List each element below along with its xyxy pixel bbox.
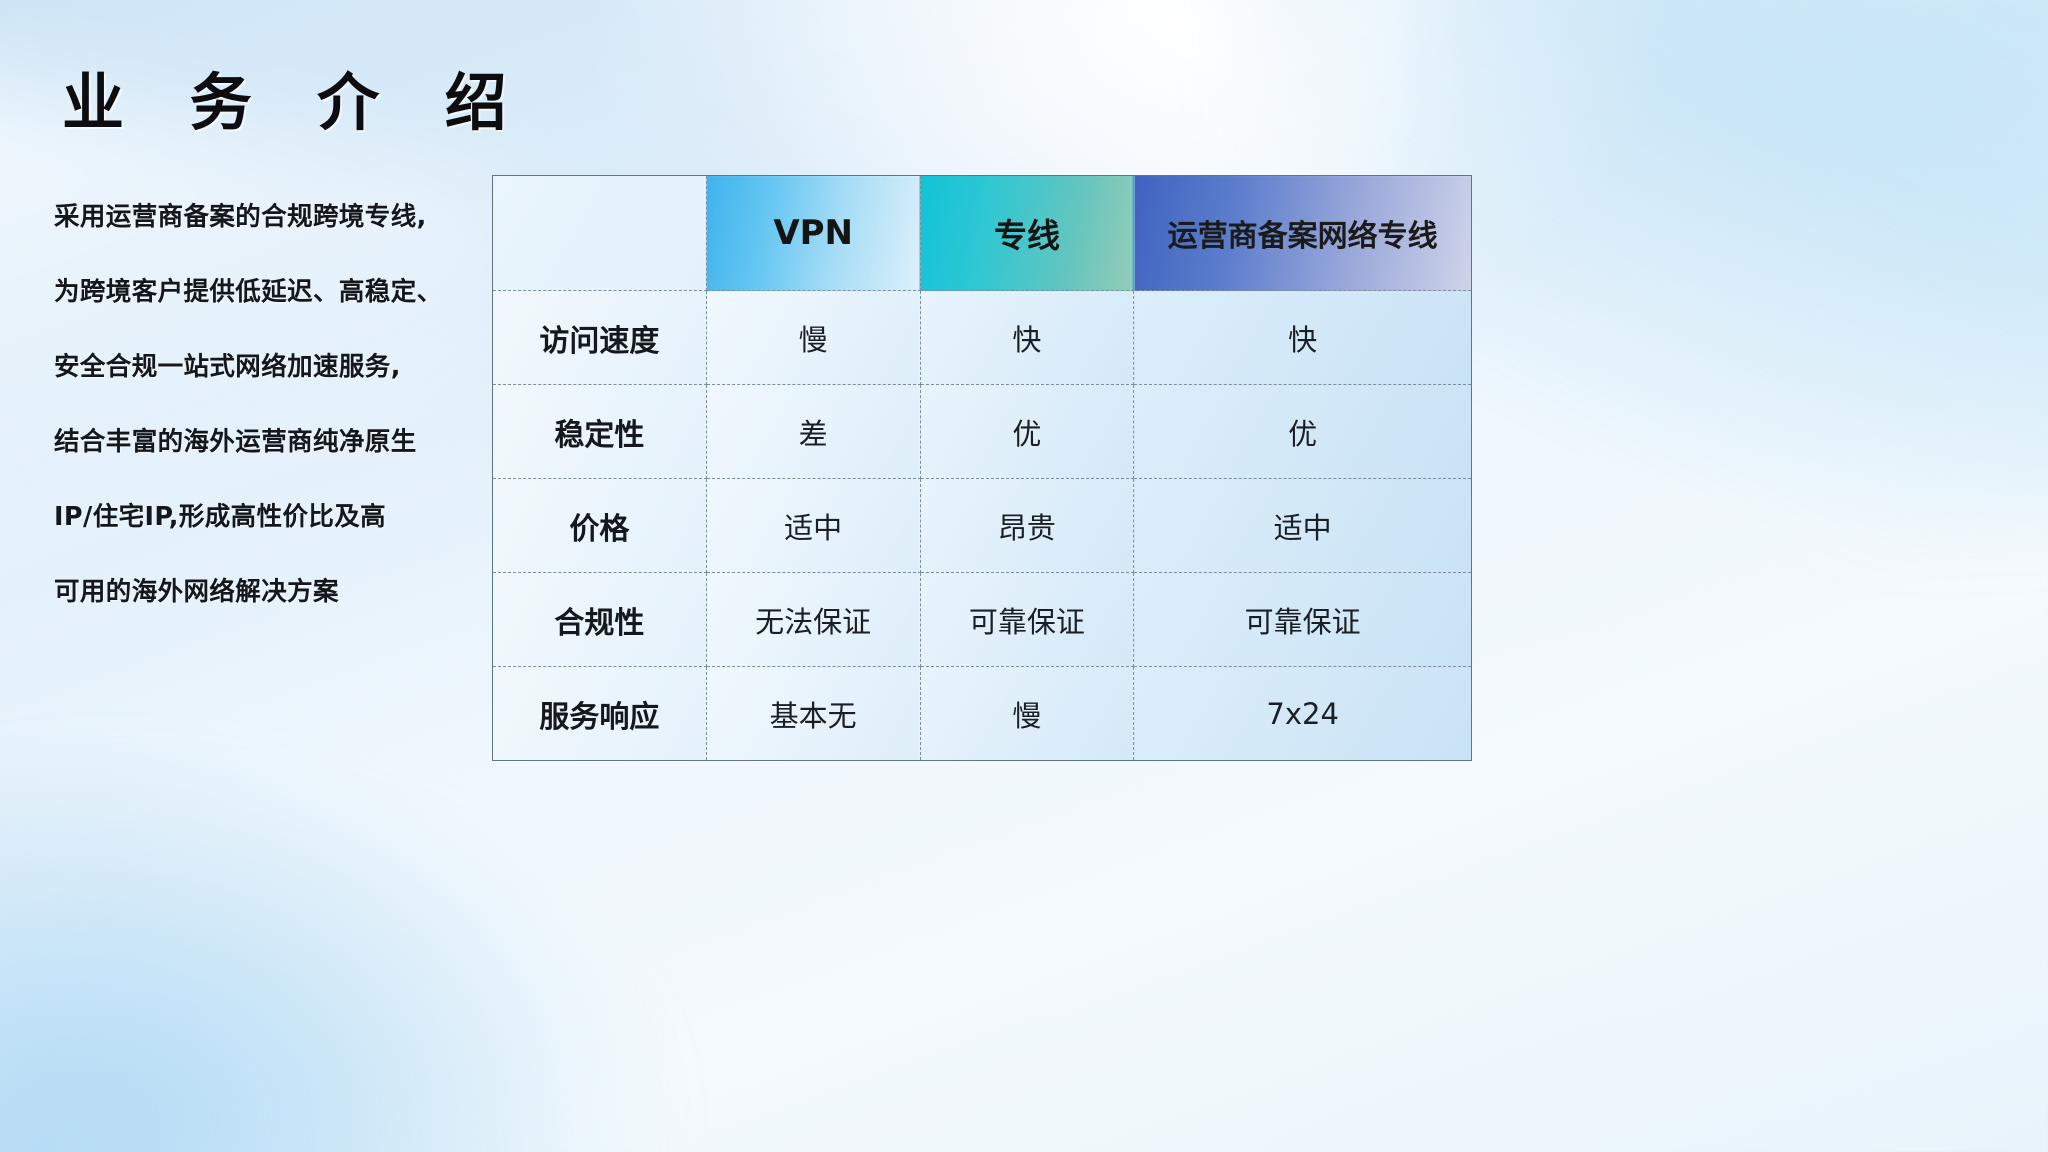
table-row: 访问速度 慢 快 快 [493,291,1472,385]
intro-line: 采用运营商备案的合规跨境专线, [54,180,474,255]
row-label-service-response: 服务响应 [493,667,707,761]
table-body: 访问速度 慢 快 快 稳定性 差 优 优 价格 适中 昂贵 适中 合规性 无法保… [493,291,1472,761]
intro-line: 可用的海外网络解决方案 [54,555,474,630]
cell-price-vpn: 适中 [706,479,920,573]
table-header-row: VPN 专线 运营商备案网络专线 [493,176,1472,291]
intro-line: 安全合规一站式网络加速服务, [54,330,474,405]
cell-stability-line: 优 [920,385,1134,479]
cell-access-speed-line: 快 [920,291,1134,385]
cell-access-speed-carrier: 快 [1134,291,1472,385]
table-row: 服务响应 基本无 慢 7x24 [493,667,1472,761]
header-cell-carrier-network-line: 运营商备案网络专线 [1134,176,1472,291]
table-row: 合规性 无法保证 可靠保证 可靠保证 [493,573,1472,667]
cell-price-line: 昂贵 [920,479,1134,573]
intro-paragraph: 采用运营商备案的合规跨境专线, 为跨境客户提供低延迟、高稳定、 安全合规一站式网… [54,180,474,630]
header-cell-dedicated-line: 专线 [920,176,1134,291]
cell-compliance-carrier: 可靠保证 [1134,573,1472,667]
row-label-access-speed: 访问速度 [493,291,707,385]
intro-line: IP/住宅IP,形成高性价比及高 [54,480,474,555]
header-cell-blank [493,176,707,291]
intro-line: 结合丰富的海外运营商纯净原生 [54,405,474,480]
table-header: VPN 专线 运营商备案网络专线 [493,176,1472,291]
row-label-compliance: 合规性 [493,573,707,667]
table-row: 价格 适中 昂贵 适中 [493,479,1472,573]
comparison-table: VPN 专线 运营商备案网络专线 访问速度 慢 快 快 稳定性 差 优 优 价格… [492,175,1472,761]
cell-service-response-carrier: 7x24 [1134,667,1472,761]
cell-service-response-line: 慢 [920,667,1134,761]
cell-access-speed-vpn: 慢 [706,291,920,385]
cell-stability-vpn: 差 [706,385,920,479]
cell-service-response-vpn: 基本无 [706,667,920,761]
page-title: 业 务 介 绍 [62,52,529,142]
header-cell-vpn: VPN [706,176,920,291]
row-label-stability: 稳定性 [493,385,707,479]
cell-stability-carrier: 优 [1134,385,1472,479]
intro-line: 为跨境客户提供低延迟、高稳定、 [54,255,474,330]
cell-price-carrier: 适中 [1134,479,1472,573]
cell-compliance-line: 可靠保证 [920,573,1134,667]
table-row: 稳定性 差 优 优 [493,385,1472,479]
row-label-price: 价格 [493,479,707,573]
cell-compliance-vpn: 无法保证 [706,573,920,667]
background-glow-bottom-left [0,732,700,1152]
